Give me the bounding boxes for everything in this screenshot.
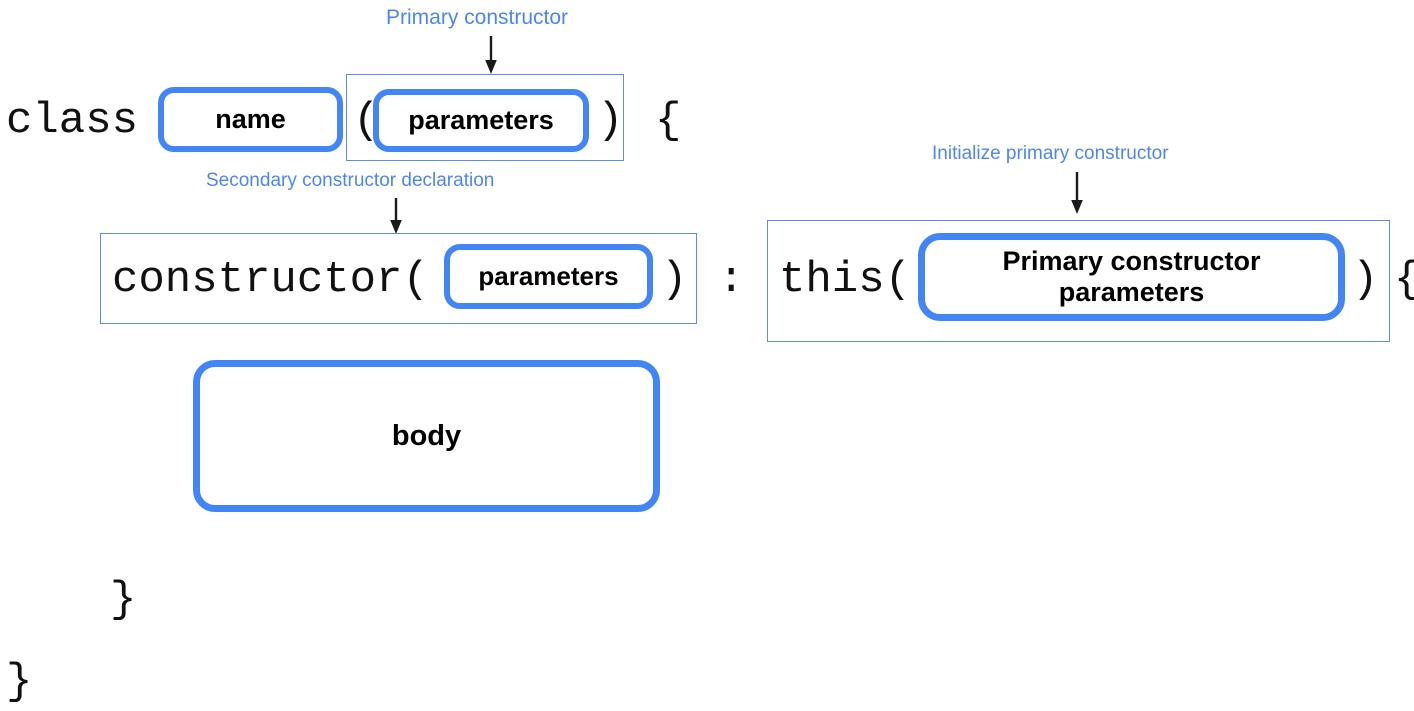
class-name-box: name [158, 87, 343, 152]
this-keyword: this( [779, 258, 911, 302]
body-box: body [193, 360, 660, 512]
primary-parameters-box: parameters [373, 89, 589, 152]
close-paren-primary: ) [597, 99, 623, 143]
close-brace-secondary: } [110, 578, 136, 622]
close-paren-secondary: ) [661, 258, 687, 302]
annotation-initialize-primary-constructor: Initialize primary constructor [932, 144, 1169, 163]
primary-constructor-parameters-line1: Primary constructor [1002, 246, 1260, 277]
secondary-parameters-box: parameters [444, 244, 653, 309]
annotation-secondary-constructor-declaration: Secondary constructor declaration [206, 171, 494, 190]
close-paren-this: ) [1352, 258, 1378, 302]
arrow-down-initialize-primary-constructor [1067, 172, 1087, 214]
arrow-down-secondary-constructor [386, 198, 406, 234]
class-keyword: class [6, 99, 138, 143]
arrow-down-primary-constructor [481, 36, 501, 74]
annotation-primary-constructor: Primary constructor [386, 7, 568, 28]
constructor-keyword: constructor( [112, 258, 429, 302]
primary-constructor-parameters-line2: parameters [1059, 277, 1205, 308]
open-brace-secondary: { [1394, 258, 1414, 302]
close-brace-class: } [6, 660, 32, 704]
primary-constructor-parameters-box: Primary constructor parameters [918, 233, 1345, 321]
diagram-canvas: Primary constructor class name ( paramet… [0, 0, 1414, 711]
delegation-colon: : [718, 258, 744, 302]
open-brace-class: { [655, 99, 681, 143]
